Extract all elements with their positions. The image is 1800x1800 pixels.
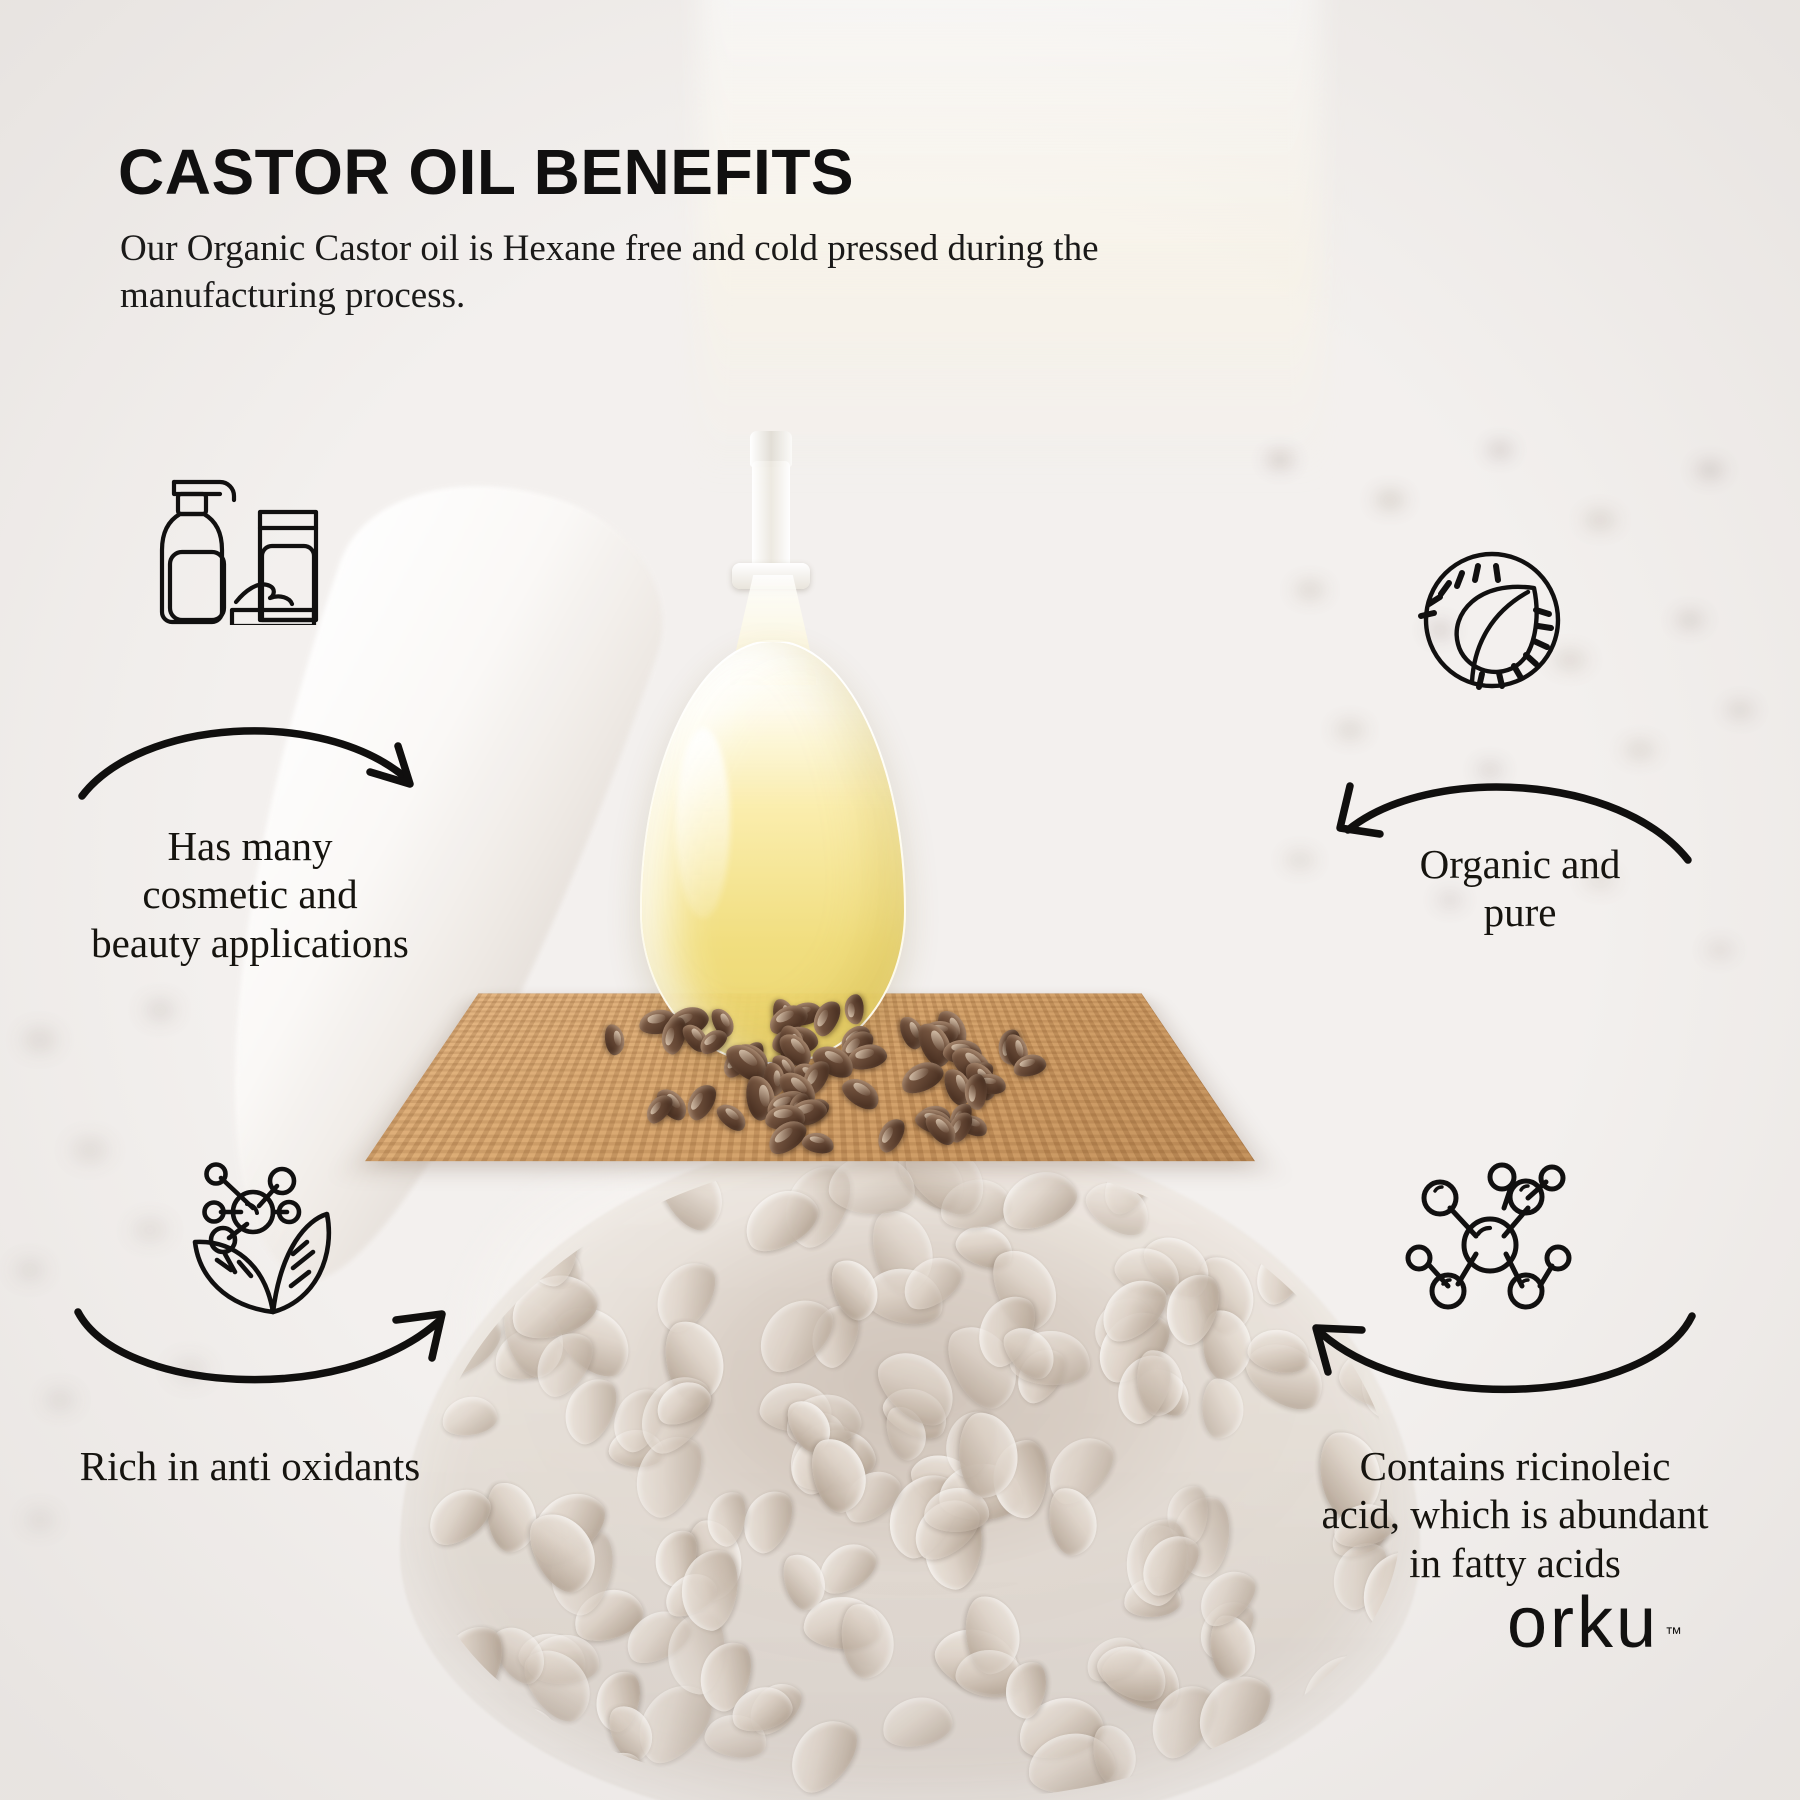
benefit-line-2: acid, which is abundant (1280, 1490, 1750, 1538)
benefit-label-cosmetic: Has many cosmetic and beauty application… (40, 822, 460, 967)
benefit-line-1: Has many (40, 822, 460, 870)
bottle-neck (752, 461, 790, 573)
benefit-line-3: in fatty acids (1280, 1539, 1750, 1587)
oil-bottle (620, 425, 920, 1065)
benefit-line-1: Contains ricinoleic (1280, 1442, 1750, 1490)
infographic-canvas: CASTOR OIL BENEFITS Our Organic Castor o… (0, 0, 1800, 1800)
castor-seeds-pile (560, 975, 1060, 1175)
benefit-label-ricinoleic: Contains ricinoleic acid, which is abund… (1280, 1442, 1750, 1587)
benefit-line-2: cosmetic and (40, 870, 460, 918)
curved-arrow-up-left (1300, 1290, 1710, 1420)
benefit-label-organic: Organic and pure (1310, 840, 1730, 937)
cosmetic-bottles-icon (140, 450, 330, 625)
benefit-line-2: pure (1310, 888, 1730, 936)
benefit-label-antioxidants: Rich in anti oxidants (30, 1442, 470, 1490)
page-title: CASTOR OIL BENEFITS (118, 140, 854, 204)
page-subtitle: Our Organic Castor oil is Hexane free an… (120, 225, 1300, 320)
brand-logo: orku ™ (1507, 1593, 1682, 1654)
benefit-line-1: Rich in anti oxidants (30, 1442, 470, 1490)
brand-logo-text: orku (1507, 1593, 1659, 1654)
leaf-in-circle-icon (1412, 540, 1572, 700)
curved-arrow-right (70, 700, 450, 820)
benefit-line-3: beauty applications (40, 919, 460, 967)
benefit-line-1: Organic and (1310, 840, 1730, 888)
curved-arrow-up-right (60, 1280, 460, 1410)
brand-trademark: ™ (1665, 1624, 1682, 1644)
